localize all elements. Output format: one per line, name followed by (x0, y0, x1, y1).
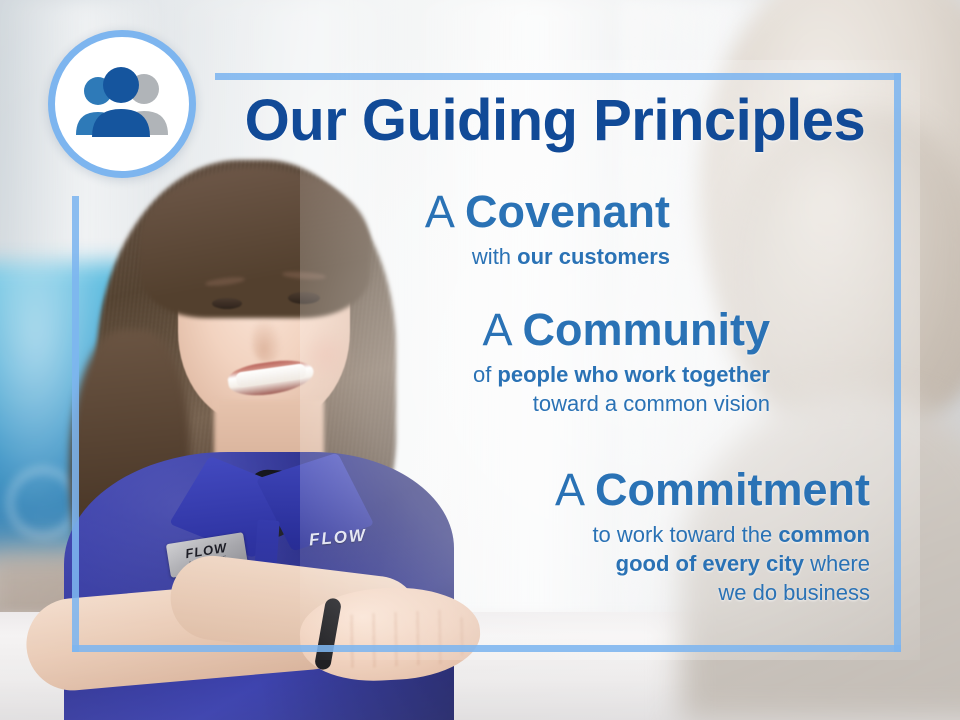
frame-border-top (215, 73, 901, 80)
principle-subtext-community: of people who work togethertoward a comm… (340, 360, 770, 418)
emphasis-text: good of every city (616, 551, 804, 576)
principle-noun: Commitment (595, 464, 870, 515)
principle-headline-community: A Community (340, 306, 770, 354)
principle-noun: Community (523, 304, 771, 355)
frame-border-bottom (72, 645, 901, 652)
promotional-graphic: FLOW FLOW AUTOMOTIVE (0, 0, 960, 720)
principle-subtext-commitment: to work toward the commongood of every c… (400, 520, 870, 607)
plain-text: with (472, 244, 517, 269)
principle-subtext-line: toward a common vision (340, 389, 770, 418)
plain-text: toward a common vision (533, 391, 770, 416)
principle-headline-commitment: A Commitment (400, 466, 870, 514)
principle-noun: Covenant (465, 186, 670, 237)
principle-headline-covenant: A Covenant (300, 188, 670, 236)
principle-subtext-line: we do business (400, 578, 870, 607)
principle-subtext-covenant: with our customers (300, 242, 670, 271)
associate-eye-right (288, 292, 320, 304)
emphasis-text: people who work together (497, 362, 770, 387)
principle-subtext-line: of people who work together (340, 360, 770, 389)
plain-text: of (473, 362, 497, 387)
plain-text: where (804, 551, 870, 576)
principle-community: A Community of people who work togethert… (340, 306, 770, 418)
principle-covenant: A Covenant with our customers (300, 188, 670, 271)
associate-fingers (329, 608, 472, 669)
emphasis-text: our customers (517, 244, 670, 269)
plain-text: to work toward the (592, 522, 778, 547)
people-group-icon (70, 67, 174, 141)
emphasis-text: common (778, 522, 870, 547)
plain-text: we do business (718, 580, 870, 605)
principle-subtext-line: to work toward the common (400, 520, 870, 549)
principle-commitment: A Commitment to work toward the commongo… (400, 466, 870, 607)
principle-subtext-line: with our customers (300, 242, 670, 271)
frame-border-right (894, 73, 901, 652)
people-group-badge (48, 30, 196, 178)
page-title: Our Guiding Principles (215, 92, 895, 150)
associate-eye-left (212, 298, 242, 309)
principle-subtext-line: good of every city where (400, 549, 870, 578)
associate-nose (252, 318, 282, 362)
frame-border-left (72, 196, 79, 652)
